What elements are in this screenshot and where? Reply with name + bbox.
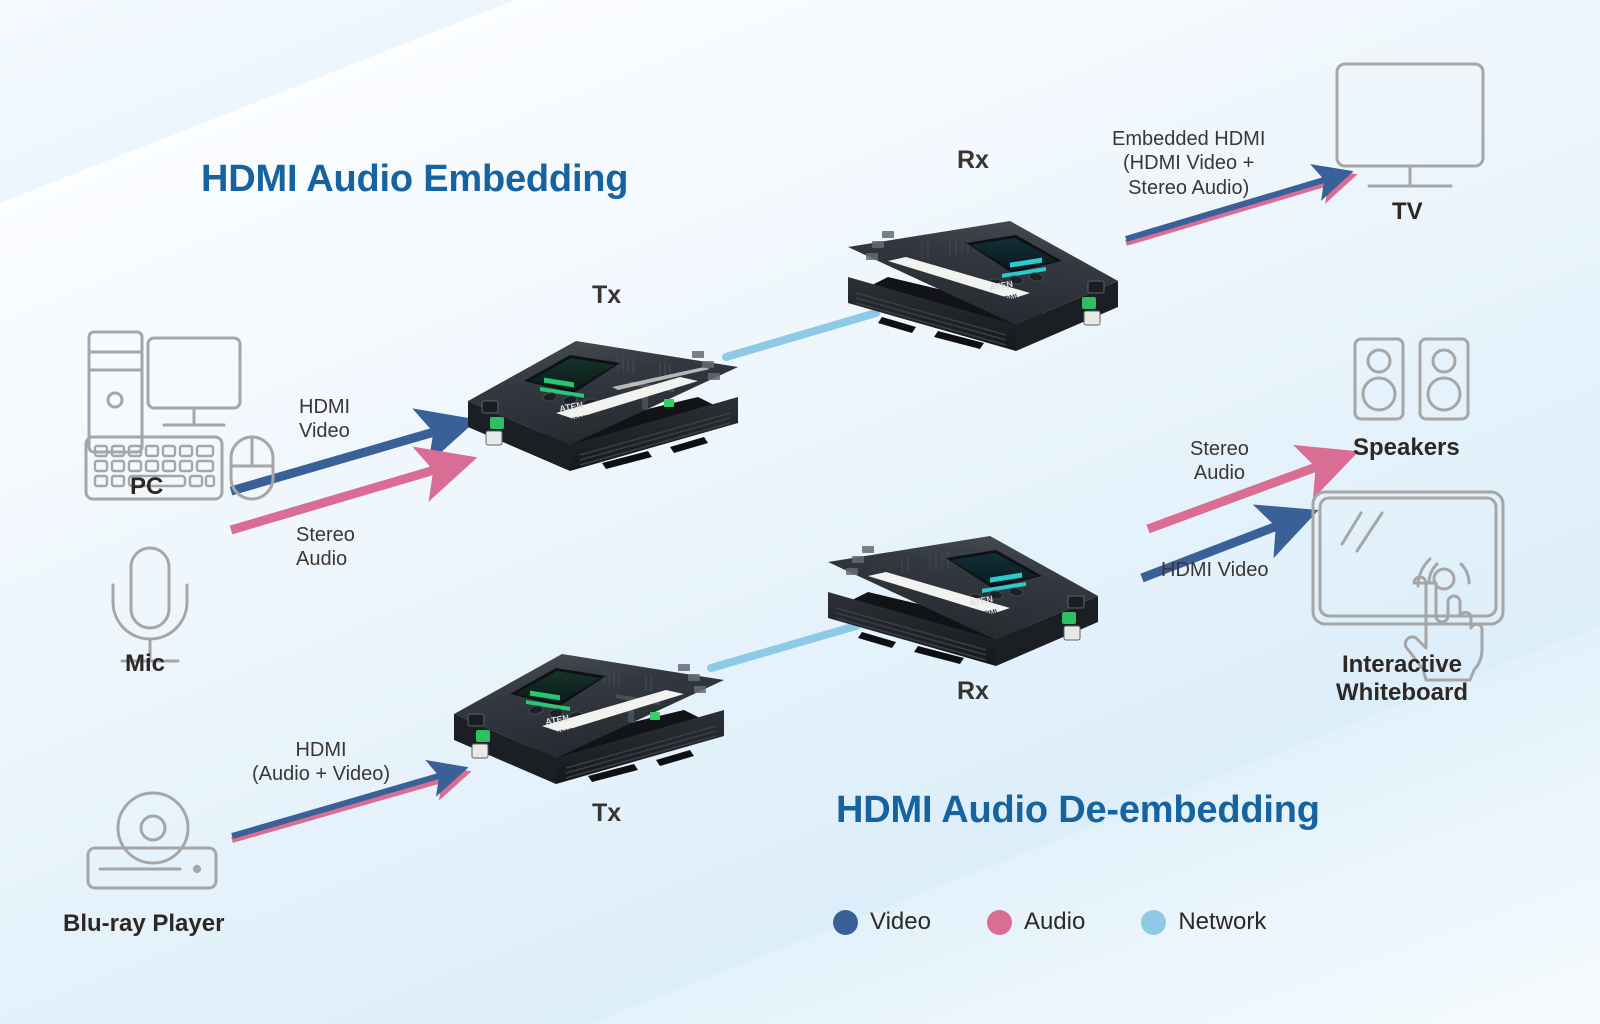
flow-label-hdmi-audio-video: HDMI (Audio + Video): [252, 738, 390, 787]
flow-label-embedded-hdmi: Embedded HDMI (HDMI Video + Stereo Audio…: [1112, 127, 1265, 200]
label-mic: Mic: [125, 650, 165, 678]
legend-item-audio: Audio: [987, 908, 1085, 936]
flow-stereo-audio-line1: Stereo: [296, 523, 355, 547]
speakers-icon: [1355, 339, 1468, 419]
mic-icon: [113, 548, 187, 661]
legend-item-video: Video: [833, 908, 931, 936]
pc-icon: [86, 332, 273, 499]
flow-embedded-line1: Embedded HDMI: [1112, 127, 1265, 151]
diagram-canvas: ATEN HDMI: [0, 0, 1600, 1024]
label-pc: PC: [130, 473, 163, 501]
flow-out-stereo-line1: Stereo: [1190, 437, 1249, 461]
page-title-deembedding: HDMI Audio De-embedding: [836, 789, 1320, 832]
legend-label-network: Network: [1178, 908, 1266, 936]
endpoint-icon-layer: [0, 0, 1600, 1024]
video-dot-icon: [833, 910, 858, 935]
flow-stereo-audio-line2: Audio: [296, 547, 355, 571]
label-whiteboard-line1: Interactive: [1336, 651, 1468, 679]
flow-embedded-line3: Stereo Audio): [1112, 176, 1265, 200]
tv-icon: [1337, 64, 1483, 186]
flow-label-stereo-audio-out: Stereo Audio: [1190, 437, 1249, 486]
page-title-embedding: HDMI Audio Embedding: [201, 158, 628, 201]
arrow-stereo-audio-mic-to-tx: [231, 466, 448, 530]
bluray-player-icon: [88, 793, 216, 888]
label-tx-bottom: Tx: [592, 799, 621, 828]
legend-label-audio: Audio: [1024, 908, 1085, 936]
flow-hdmi-av-line1: HDMI: [252, 738, 390, 762]
legend: Video Audio Network: [833, 908, 1266, 936]
label-whiteboard-line2: Whiteboard: [1336, 679, 1468, 707]
background-band-lower: [0, 0, 1600, 1024]
label-tv: TV: [1392, 198, 1423, 226]
flow-label-hdmi-video-out: HDMI Video: [1161, 558, 1268, 582]
flow-hdmi-av-line2: (Audio + Video): [252, 762, 390, 786]
flow-label-hdmi-video-in: HDMI Video: [299, 395, 350, 444]
flow-label-stereo-audio-in: Stereo Audio: [296, 523, 355, 572]
device-tx-top: ATEN HDMI: [452, 305, 744, 495]
audio-dot-icon: [987, 910, 1012, 935]
label-rx-bottom: Rx: [957, 677, 989, 706]
flow-hdmi-video-line1: HDMI: [299, 395, 350, 419]
legend-label-video: Video: [870, 908, 931, 936]
label-interactive-whiteboard: Interactive Whiteboard: [1336, 651, 1468, 706]
device-rx-top: ATEN HDMI: [842, 185, 1134, 375]
legend-item-network: Network: [1141, 908, 1266, 936]
flow-embedded-line2: (HDMI Video +: [1112, 151, 1265, 175]
flow-out-stereo-line2: Audio: [1190, 461, 1249, 485]
device-rx-bottom: ATEN HDMI: [822, 500, 1114, 690]
label-bluray-player: Blu-ray Player: [63, 910, 224, 938]
label-tx-top: Tx: [592, 281, 621, 310]
device-tx-bottom: ATEN HDMI: [438, 618, 730, 808]
network-dot-icon: [1141, 910, 1166, 935]
label-speakers: Speakers: [1353, 434, 1460, 462]
flow-hdmi-video-line2: Video: [299, 419, 350, 443]
label-rx-top: Rx: [957, 146, 989, 175]
background-band-upper: [0, 0, 1600, 261]
connector-layer: [0, 0, 1600, 1024]
